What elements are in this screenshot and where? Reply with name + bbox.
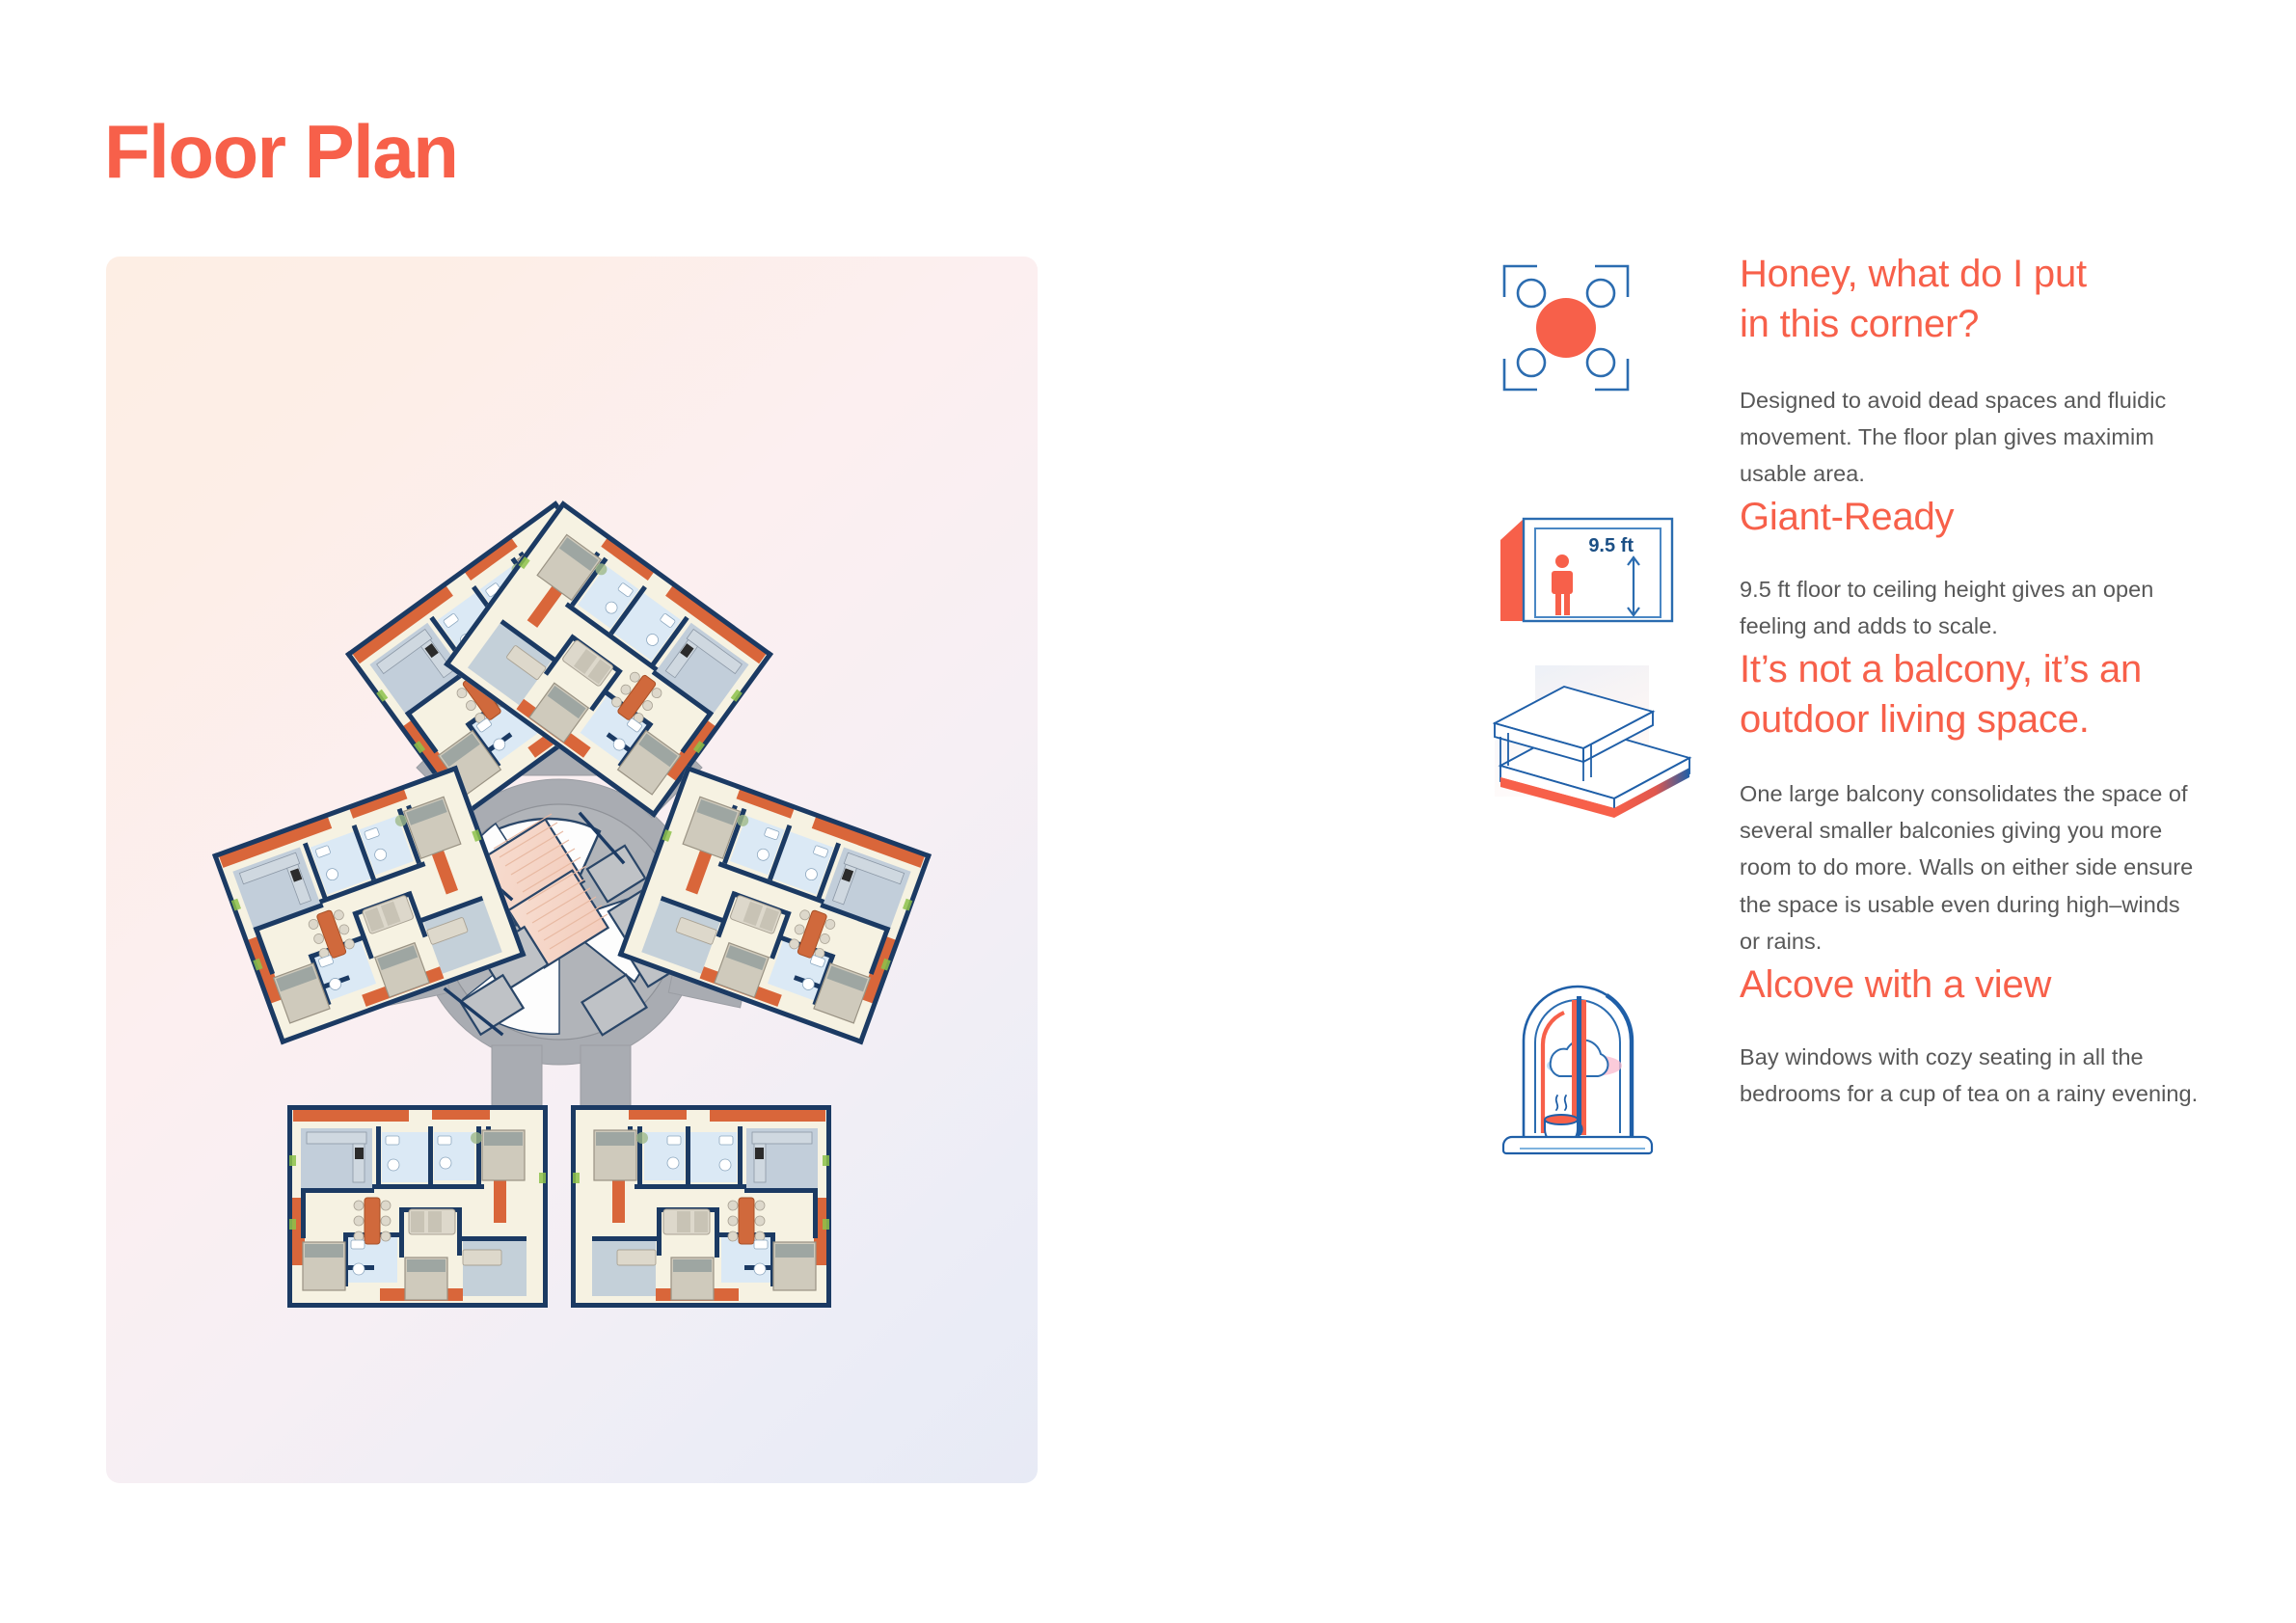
ceiling-height-icon: 9.5 ft	[1493, 492, 1734, 631]
feature-item-ceiling-height: 9.5 ft Giant-Ready 9.5 ft floor to ceili…	[1493, 492, 2255, 644]
floor-plan-panel	[106, 257, 1038, 1483]
page-title: Floor Plan	[104, 114, 457, 189]
feature-item-corner: Honey, what do I put in this corner? Des…	[1493, 249, 2255, 492]
feature-body: 9.5 ft floor to ceiling height gives an …	[1740, 571, 2255, 644]
feature-list: Honey, what do I put in this corner? Des…	[1493, 249, 2255, 1158]
apartment-wing-bottom-left	[287, 1105, 548, 1308]
feature-body: Designed to avoid dead spaces and fluidi…	[1740, 382, 2255, 492]
feature-item-balcony: It’s not a balcony, it’s an outdoor livi…	[1493, 644, 2255, 959]
balcony-isometric-icon	[1493, 644, 1734, 825]
floor-plan-drawing	[106, 257, 1038, 1483]
feature-heading: Alcove with a view	[1740, 960, 2255, 1010]
apartment-wing-bottom-right	[571, 1105, 831, 1308]
feature-item-alcove: Alcove with a view Bay windows with cozy…	[1493, 960, 2255, 1158]
corner-dead-space-icon	[1493, 249, 1734, 401]
feature-heading: Honey, what do I put in this corner?	[1740, 249, 2255, 349]
ceiling-height-label: 9.5 ft	[1588, 535, 1634, 556]
feature-heading: Giant-Ready	[1740, 492, 2255, 542]
floor-plan-page: Floor Plan	[0, 0, 2296, 1623]
feature-body: Bay windows with cozy seating in all the…	[1740, 1039, 2255, 1112]
feature-body: One large balcony consolidates the space…	[1740, 775, 2255, 959]
bay-window-icon	[1493, 960, 1734, 1158]
feature-heading: It’s not a balcony, it’s an outdoor livi…	[1740, 644, 2255, 744]
